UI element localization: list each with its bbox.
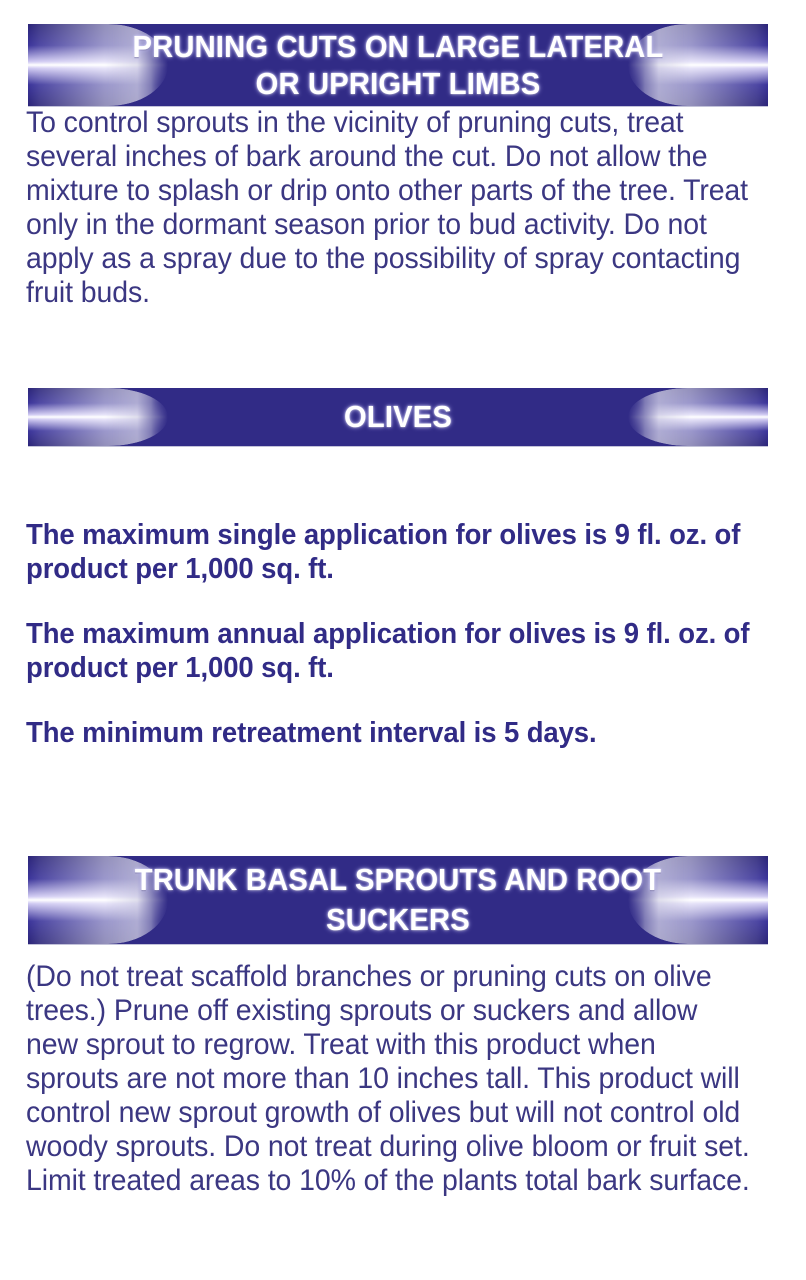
banner-title-trunk-basal-sprouts: TRUNK BASAL SPROUTS AND ROOT SUCKERS: [50, 856, 746, 940]
olives-statement-max-single-application: The maximum single application for olive…: [26, 518, 752, 586]
section-banner-pruning-cuts: PRUNING CUTS ON LARGE LATERAL OR UPRIGHT…: [28, 24, 768, 106]
section-banner-olives: OLIVES: [28, 388, 768, 446]
paragraph-trunk-basal-sprouts: (Do not treat scaffold branches or pruni…: [26, 960, 752, 1198]
label-page: PRUNING CUTS ON LARGE LATERAL OR UPRIGHT…: [0, 0, 806, 1280]
olives-statement-min-retreatment-interval: The minimum retreatment interval is 5 da…: [26, 716, 752, 750]
banner-title-olives: OLIVES: [50, 388, 746, 446]
section-banner-trunk-basal-sprouts: TRUNK BASAL SPROUTS AND ROOT SUCKERS: [28, 856, 768, 944]
banner-title-pruning-cuts: PRUNING CUTS ON LARGE LATERAL OR UPRIGHT…: [50, 24, 746, 102]
paragraph-pruning-cuts: To control sprouts in the vicinity of pr…: [26, 106, 752, 310]
olives-statement-max-annual-application: The maximum annual application for olive…: [26, 617, 752, 685]
